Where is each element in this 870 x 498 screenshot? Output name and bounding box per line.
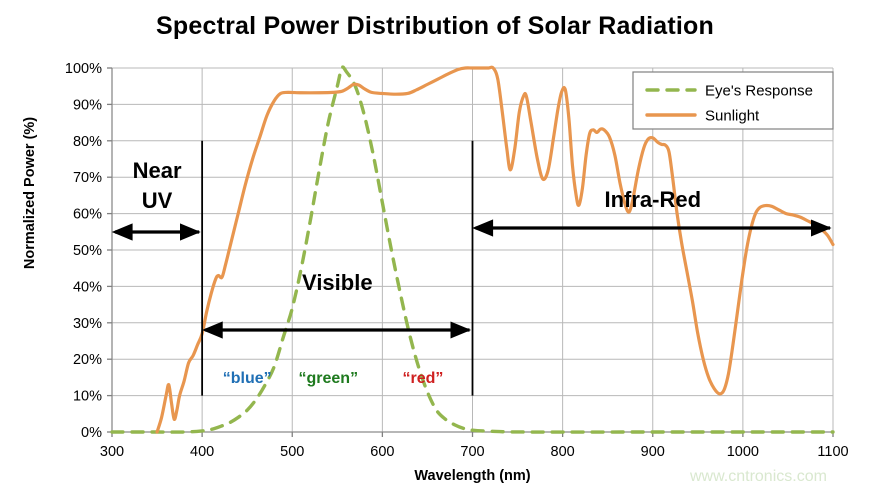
x-tick-label: 1000 [727, 444, 759, 460]
y-tick-label: 0% [81, 425, 102, 441]
y-tick-label: 60% [73, 207, 102, 223]
x-tick-label: 900 [641, 444, 665, 460]
x-tick-label: 1100 [817, 444, 848, 460]
legend-label-0[interactable]: Eye's Response [705, 83, 813, 100]
y-tick-label: 20% [73, 352, 102, 368]
y-tick-label: 30% [73, 316, 102, 332]
visible-color-labels: “blue”“green”“red” [223, 370, 444, 387]
chart-legend[interactable]: Eye's ResponseSunlight [633, 72, 833, 129]
x-tick-label: 800 [551, 444, 575, 460]
y-tick-label: 90% [73, 97, 102, 113]
y-tick-label: 10% [73, 389, 102, 405]
color-label-red: “red” [402, 370, 443, 387]
y-tick-label: 100% [65, 61, 102, 77]
region-label-near-uv: UV [142, 188, 173, 213]
x-tick-label: 600 [370, 444, 394, 460]
y-tick-label: 50% [73, 243, 102, 259]
region-label-near-uv: Near [133, 158, 182, 183]
x-tick-label: 300 [100, 444, 124, 460]
y-tick-label: 80% [73, 134, 102, 150]
x-tick-label: 700 [460, 444, 484, 460]
region-boundary-lines [202, 141, 472, 396]
region-label-visible: Visible [302, 270, 373, 295]
color-label-blue: “blue” [223, 370, 272, 387]
color-label-green: “green” [299, 370, 359, 387]
y-tick-label: 70% [73, 170, 102, 186]
x-tick-label: 500 [280, 444, 304, 460]
legend-label-1[interactable]: Sunlight [705, 108, 760, 125]
x-axis-ticks: 30040050060070080090010001100 [100, 432, 849, 460]
region-label-infra-red: Infra-Red [604, 187, 701, 212]
y-tick-label: 40% [73, 279, 102, 295]
y-axis-ticks: 0%10%20%30%40%50%60%70%80%90%100% [65, 61, 112, 441]
x-tick-label: 400 [190, 444, 214, 460]
chart-container: Spectral Power Distribution of Solar Rad… [0, 0, 870, 498]
chart-plot-area: 0%10%20%30%40%50%60%70%80%90%100% 300400… [0, 0, 870, 498]
